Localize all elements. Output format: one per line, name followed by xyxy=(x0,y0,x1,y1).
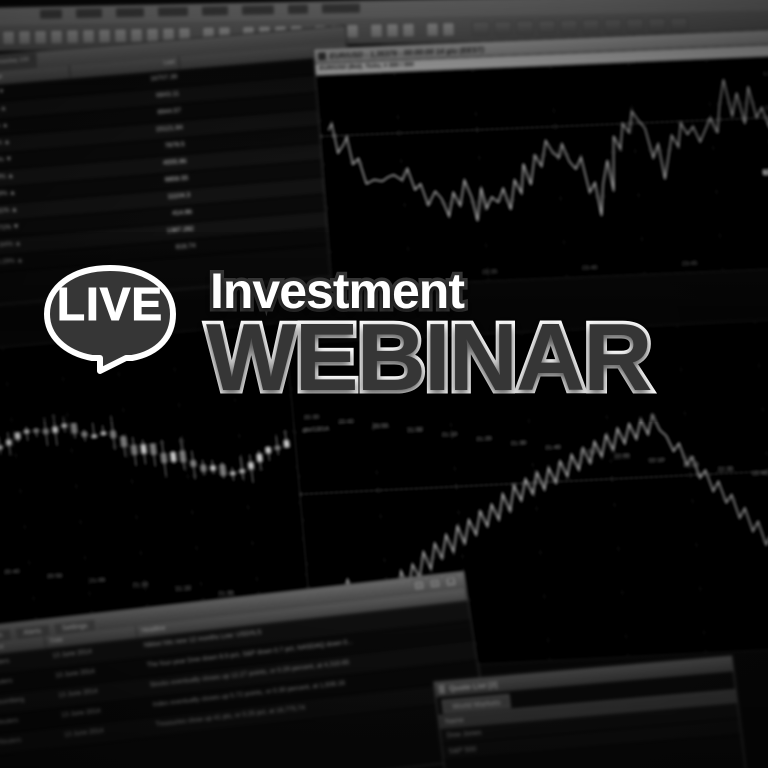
live-badge: LIVE xyxy=(40,262,192,377)
webinar-promo-graphic: Watchlist Dow Jones Ind 30 Nasdaq 100 Sy… xyxy=(0,0,768,768)
promo-overlay: LIVE Investment WEBINAR xyxy=(0,0,768,768)
headline-webinar: WEBINAR xyxy=(206,310,651,406)
live-badge-label: LIVE xyxy=(40,281,180,327)
